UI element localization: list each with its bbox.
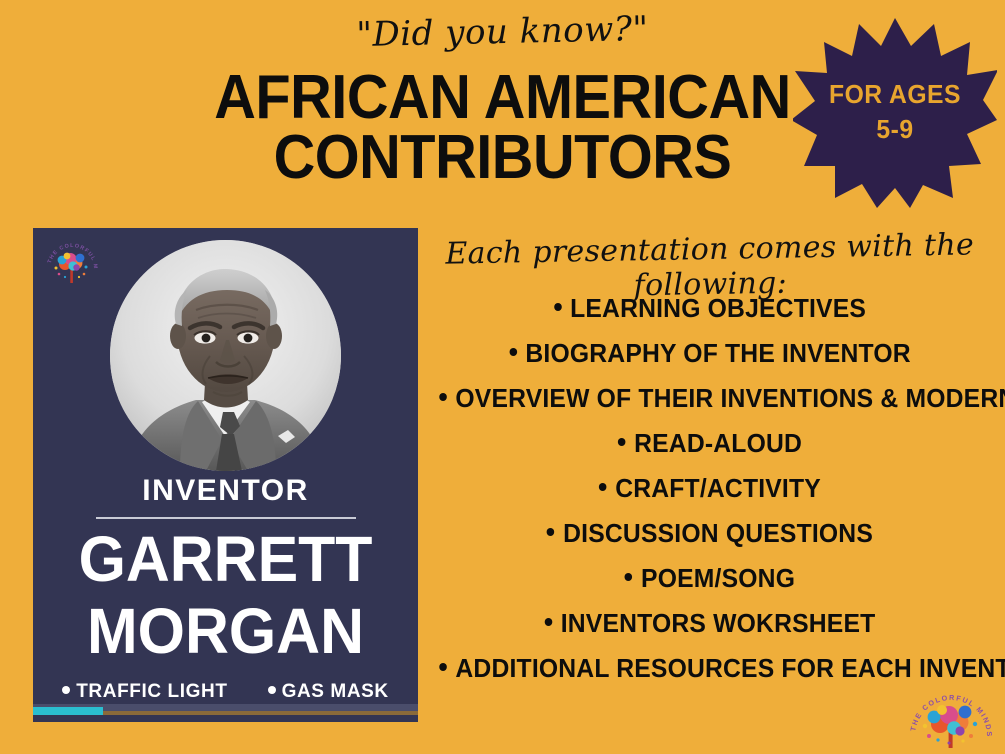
inventor-name: GARRETT MORGAN	[43, 524, 409, 667]
age-badge: FOR AGES 5-9	[793, 16, 997, 208]
invention-tag: TRAFFIC LIGHT	[62, 681, 227, 703]
list-item: BIOGRAPHY OF THE INVENTOR	[439, 340, 981, 366]
features-list: LEARNING OBJECTIVES BIOGRAPHY OF THE INV…	[425, 295, 995, 700]
list-item: DISCUSSION QUESTIONS	[439, 520, 981, 546]
bullet-dot-icon	[62, 686, 70, 694]
age-badge-line-2: 5-9	[876, 112, 913, 147]
list-item: READ-ALOUD	[439, 430, 981, 456]
bullet-dot-icon	[439, 663, 447, 671]
list-item-label: ADDITIONAL RESOURCES FOR EACH INVENTOR	[455, 653, 1005, 683]
list-item-label: POEM/SONG	[641, 563, 795, 593]
invention-tags: TRAFFIC LIGHT GAS MASK	[33, 681, 418, 703]
inventor-first-name: GARRETT	[43, 524, 409, 596]
list-item: POEM/SONG	[439, 565, 981, 591]
list-item-label: READ-ALOUD	[634, 428, 802, 458]
list-item-label: OVERVIEW OF THEIR INVENTIONS & MODERN IM…	[455, 383, 1005, 413]
bullet-dot-icon	[599, 483, 607, 491]
bullet-dot-icon	[618, 438, 626, 446]
bullet-dot-icon	[439, 393, 447, 401]
list-item: INVENTORS WOKRSHEET	[439, 610, 981, 636]
card-accent-bar-teal	[33, 707, 103, 715]
list-item-label: INVENTORS WOKRSHEET	[561, 608, 876, 638]
list-item-label: LEARNING OBJECTIVES	[570, 293, 866, 323]
list-item-label: CRAFT/ACTIVITY	[615, 473, 821, 503]
list-item: LEARNING OBJECTIVES	[439, 295, 981, 321]
invention-tag-label: TRAFFIC LIGHT	[76, 681, 227, 702]
bullet-dot-icon	[268, 686, 276, 694]
card-divider	[96, 517, 356, 519]
list-item-label: DISCUSSION QUESTIONS	[563, 518, 873, 548]
bullet-dot-icon	[554, 303, 562, 311]
inventor-portrait	[110, 240, 341, 471]
bullet-dot-icon	[547, 528, 555, 536]
poster-canvas: "Did you know?" AFRICAN AMERICAN CONTRIB…	[0, 0, 1005, 754]
bullet-dot-icon	[625, 573, 633, 581]
brand-logo-icon: THE COLORFUL MINDS HUB	[43, 236, 101, 294]
list-item: OVERVIEW OF THEIR INVENTIONS & MODERN IM…	[439, 385, 981, 411]
list-item: CRAFT/ACTIVITY	[439, 475, 981, 501]
bullet-dot-icon	[545, 618, 553, 626]
age-badge-text: FOR AGES 5-9	[798, 16, 992, 208]
inventor-last-name: MORGAN	[43, 596, 409, 668]
list-item-label: BIOGRAPHY OF THE INVENTOR	[525, 338, 910, 368]
invention-tag-label: GAS MASK	[282, 681, 389, 702]
card-accent-bar-brown	[103, 711, 418, 715]
invention-tag: GAS MASK	[268, 681, 389, 703]
bullet-dot-icon	[509, 348, 517, 356]
watermark-logo-icon: THE COLORFUL MINDS HUB	[905, 684, 997, 750]
age-badge-line-1: FOR AGES	[829, 77, 961, 112]
inventor-role: INVENTOR	[33, 474, 418, 508]
inventor-card: THE COLORFUL MINDS HUB	[33, 228, 418, 722]
list-item: ADDITIONAL RESOURCES FOR EACH INVENTOR	[439, 655, 981, 681]
